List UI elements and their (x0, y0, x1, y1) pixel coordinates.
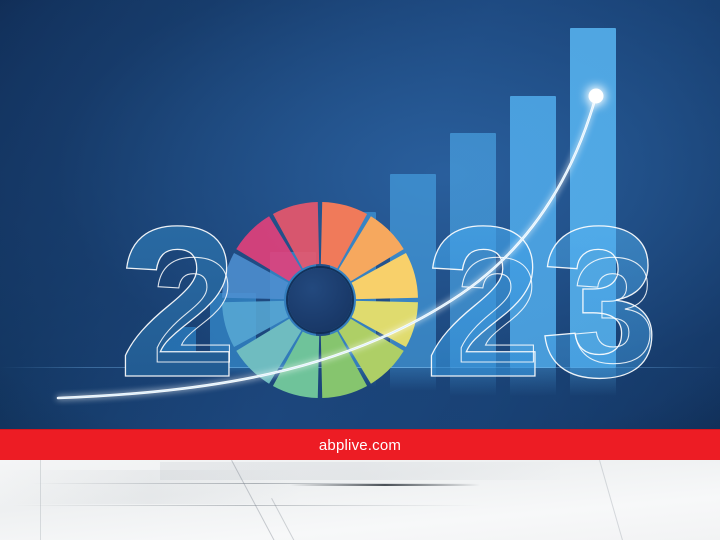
banner-image: 2 2 2 2 2 2 3 3 3 abplive.com (0, 0, 720, 540)
paper-vertical-edge (40, 460, 41, 540)
numeral-2-right-inner-outline: 2 (456, 226, 539, 394)
bottom-paper-strip (0, 460, 720, 540)
numeral-2-left-inner-outline: 2 (152, 226, 235, 394)
paper-diagonal-3 (599, 460, 626, 540)
growth-curve-endpoint-core (592, 92, 600, 100)
numeral-3-inner-outline: 3 (572, 226, 655, 394)
paper-line-2 (10, 505, 480, 506)
watermark-text: abplive.com (319, 437, 401, 454)
paper-line-dark (290, 484, 480, 486)
paper-shade-band-2 (0, 470, 300, 504)
year-numerals: 2 2 2 2 2 2 3 3 3 (0, 0, 720, 436)
watermark-band: abplive.com (0, 430, 720, 460)
hero-artwork: 2 2 2 2 2 2 3 3 3 (0, 0, 720, 436)
